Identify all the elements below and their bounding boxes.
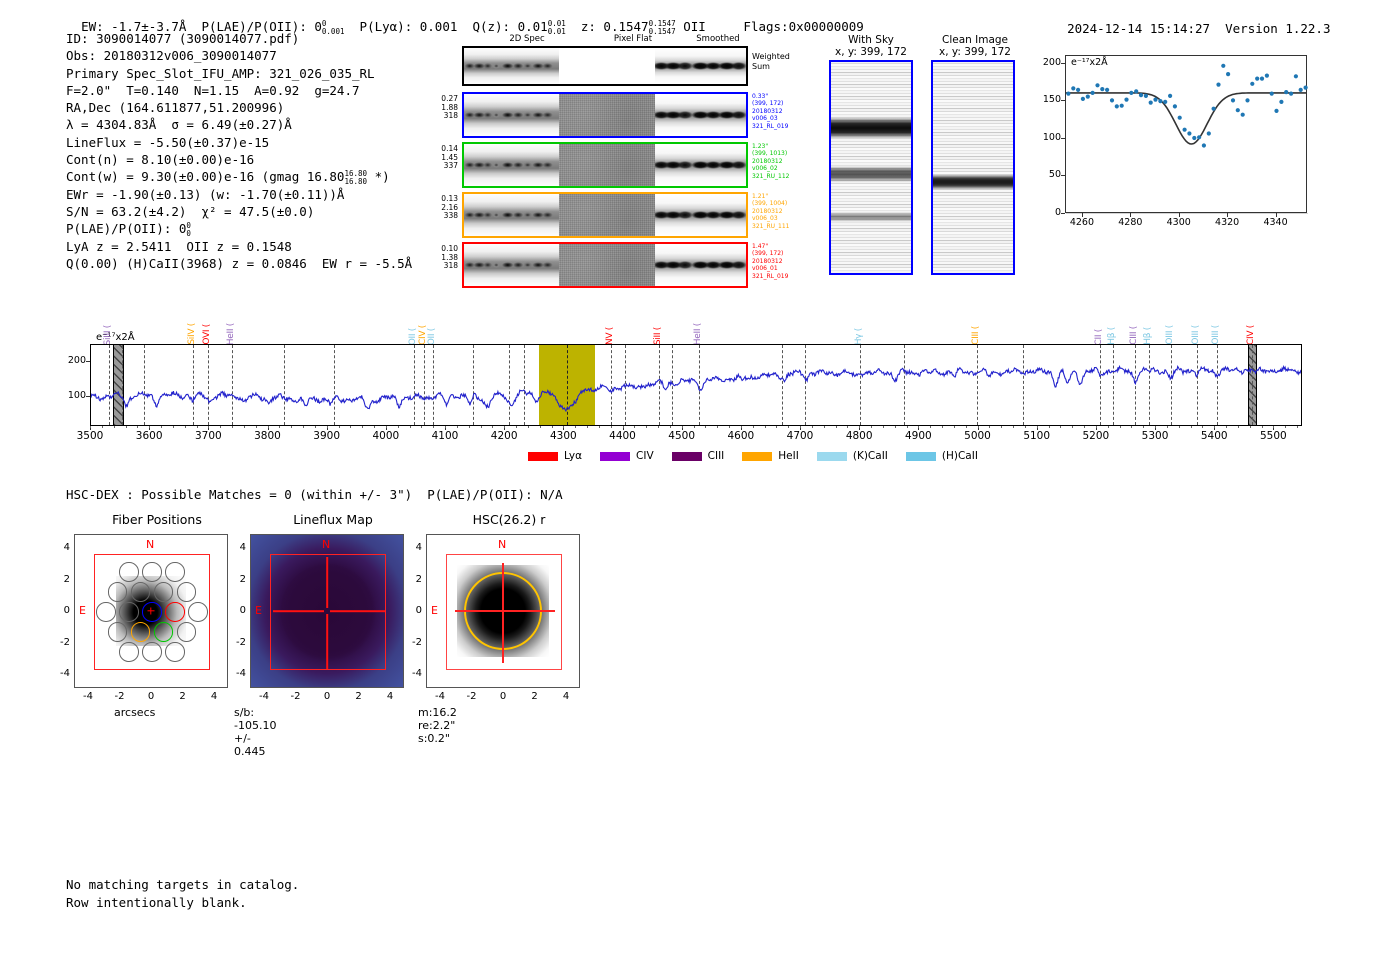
header-timestamp-version: 2024-12-14 15:14:27 Version 1.22.3 xyxy=(1052,6,1330,36)
fit-y-tick xyxy=(1061,138,1065,139)
spectrum-x-minor-tick xyxy=(705,426,706,428)
spectrum-x-minor-tick xyxy=(800,426,801,428)
spectrum-line-label: Hγ ( xyxy=(854,328,864,345)
spectrum-x-minor-tick xyxy=(504,426,505,428)
cutout-y-tick-label: 2 xyxy=(48,574,70,585)
fiber-positions-xlabel: arcsecs xyxy=(114,706,155,719)
spectrum-x-minor-tick xyxy=(1108,426,1109,428)
fiber-row xyxy=(462,92,748,138)
fiber-row xyxy=(462,142,748,188)
info-lineflux: LineFlux = -5.50(±0.37)e-15 xyxy=(66,134,412,151)
spectrum-x-minor-tick xyxy=(1025,426,1026,428)
header-z: z: 0.1547 xyxy=(581,19,649,34)
fit-y-tick-label: 50 xyxy=(1029,169,1061,180)
cutout-x-tick-label: -2 xyxy=(456,691,488,702)
cutout-x-tick-label: 4 xyxy=(374,691,406,702)
spectrum-x-minor-tick xyxy=(1084,426,1085,428)
spectrum-x-minor-tick xyxy=(197,426,198,428)
spectrum-x-minor-tick xyxy=(729,426,730,428)
spectrum-line-label: CII ( xyxy=(1094,329,1104,345)
spectrum-x-minor-tick xyxy=(1096,426,1097,428)
spectrum-line-label: OIII ( xyxy=(1211,325,1221,345)
legend-item: (K)CaII xyxy=(817,450,888,462)
legend-swatch xyxy=(817,452,847,461)
fit-y-tick xyxy=(1061,100,1065,101)
fiber-row-smoothed xyxy=(655,144,746,186)
spectrum-x-minor-tick xyxy=(1013,426,1014,428)
spectrum-x-minor-tick xyxy=(126,426,127,428)
spectrum-x-minor-tick xyxy=(1179,426,1180,428)
spectrum-x-minor-tick xyxy=(611,426,612,428)
column-title-smoothed: Smoothed xyxy=(668,34,768,44)
info-lambda-sigma: λ = 4304.83Å σ = 6.49(±0.27)Å xyxy=(66,116,412,133)
fit-y-tick xyxy=(1061,63,1065,64)
spectrum-x-minor-tick xyxy=(1072,426,1073,428)
fiber-positions-fov-box xyxy=(94,554,210,670)
header-qz-bounds: 0.010.01 xyxy=(548,20,566,35)
fiber-row-left-labels: 0.141.45337 xyxy=(418,145,458,171)
spectrum-x-tick-label: 5400 xyxy=(1186,430,1242,442)
footer-line-1: No matching targets in catalog. xyxy=(66,876,299,894)
cutout-y-tick-label: 4 xyxy=(224,542,246,553)
legend-label: HeII xyxy=(778,450,799,462)
cutout-y-tick-label: 2 xyxy=(400,574,422,585)
spectrum-x-minor-tick xyxy=(1214,426,1215,428)
fit-x-tick xyxy=(1179,213,1180,217)
cutout-clean-image-image xyxy=(931,60,1015,275)
fiber-row-pixelflat xyxy=(559,194,655,236)
info-sn-chi2: S/N = 63.2(±4.2) χ² = 47.5(±0.0) xyxy=(66,203,412,220)
fiber-row-side-labels: 1.21" (399, 1004) 20180312 v006_03 321_R… xyxy=(752,193,789,230)
info-primary-spec-slot: Primary Spec_Slot_IFU_AMP: 321_026_035_R… xyxy=(66,65,412,82)
spectrum-x-minor-tick xyxy=(1037,426,1038,428)
cutout-x-tick-label: -2 xyxy=(280,691,312,702)
footer-line-2: Row intentionally blank. xyxy=(66,894,299,912)
fit-y-tick-label: 200 xyxy=(1029,57,1061,68)
spectrum-line-label: SiII ( xyxy=(653,327,663,345)
fiber-row-metric: 338 xyxy=(418,212,458,221)
spectrum-x-tick-label: 3700 xyxy=(180,430,236,442)
spectrum-x-tick-label: 4900 xyxy=(890,430,946,442)
spectrum-x-minor-tick xyxy=(1049,426,1050,428)
spectrum-x-minor-tick xyxy=(1250,426,1251,428)
info-params: F=2.0" T=0.140 N=1.15 A=0.92 g=24.7 xyxy=(66,82,412,99)
spectrum-x-minor-tick xyxy=(812,426,813,428)
spectrum-y-tick xyxy=(86,396,90,397)
cutout-y-tick-label: 0 xyxy=(400,605,422,616)
cutout-y-tick-label: -2 xyxy=(400,637,422,648)
spectrum-y-tick xyxy=(86,361,90,362)
spectrum-x-minor-tick xyxy=(883,426,884,428)
lineflux-map-xlabel: s/b: -105.10 +/- 0.445 xyxy=(234,706,276,758)
spectrum-x-minor-tick xyxy=(327,426,328,428)
spectrum-x-tick-label: 3900 xyxy=(299,430,355,442)
spectrum-x-minor-tick xyxy=(173,426,174,428)
header-flags: Flags:0x00000009 xyxy=(743,19,863,34)
column-title-2d-spec: 2D Spec xyxy=(472,34,582,44)
weighted-sum-row xyxy=(462,46,748,86)
fit-y-tick-label: 0 xyxy=(1029,207,1061,218)
cutout-clean-image-title: Clean Image xyxy=(928,34,1022,46)
cutout-y-tick-label: 0 xyxy=(224,605,246,616)
fit-x-tick xyxy=(1276,213,1277,217)
spectrum-x-minor-tick xyxy=(185,426,186,428)
fiber-row-left-labels: 0.271.88318 xyxy=(418,95,458,121)
cutout-y-tick-label: -4 xyxy=(224,668,246,679)
fiber-row-2dspec xyxy=(464,94,559,136)
spectrum-x-minor-tick xyxy=(1285,426,1286,428)
fiber-row-2dspec xyxy=(464,144,559,186)
fiber-row-left-labels: 0.132.16338 xyxy=(418,195,458,221)
legend-item: CIII xyxy=(672,450,725,462)
spectrum-x-minor-tick xyxy=(634,426,635,428)
spectrum-x-minor-tick xyxy=(1273,426,1274,428)
spectrum-x-minor-tick xyxy=(1226,426,1227,428)
legend-label: Lyα xyxy=(564,450,582,462)
spectrum-x-minor-tick xyxy=(492,426,493,428)
spectrum-y-tick-label: 200 xyxy=(52,355,86,366)
spectrum-x-minor-tick xyxy=(149,426,150,428)
cutout-x-tick-label: -4 xyxy=(72,691,104,702)
cutout-y-tick-label: -2 xyxy=(224,637,246,648)
cutout-x-tick-label: 2 xyxy=(519,691,551,702)
spectrum-line-label: Hβ ( xyxy=(1107,327,1117,345)
spectrum-x-tick-label: 4100 xyxy=(417,430,473,442)
spectrum-x-tick-label: 4200 xyxy=(476,430,532,442)
spectrum-x-minor-tick xyxy=(540,426,541,428)
legend-swatch xyxy=(600,452,630,461)
legend-item: CIV xyxy=(600,450,654,462)
spectrum-x-minor-tick xyxy=(658,426,659,428)
fit-x-tick xyxy=(1082,213,1083,217)
spectrum-x-minor-tick xyxy=(457,426,458,428)
info-cont-w: Cont(w) = 9.30(±0.00)e-16 (gmag 16.8016.… xyxy=(66,168,412,185)
spectrum-x-tick-label: 4500 xyxy=(654,430,710,442)
fiber-positions-compass-e: E xyxy=(79,604,86,617)
spectrum-line-label: SiIII ( xyxy=(103,325,113,345)
source-info-block: ID: 3090014077 (3090014077.pdf) Obs: 201… xyxy=(66,30,412,272)
spectrum-x-minor-tick xyxy=(788,426,789,428)
spectrum-line-label: OIII ( xyxy=(1191,325,1201,345)
fiber-row-pixelflat xyxy=(559,94,655,136)
cutout-y-tick-label: 2 xyxy=(224,574,246,585)
spectrum-trace xyxy=(91,345,1301,425)
spectrum-x-minor-tick xyxy=(374,426,375,428)
footer-note: No matching targets in catalog. Row inte… xyxy=(66,876,299,911)
spectrum-x-minor-tick xyxy=(907,426,908,428)
spectrum-x-minor-tick xyxy=(859,426,860,428)
header-qz: Q(z): 0.01 xyxy=(472,19,547,34)
spectrum-x-minor-tick xyxy=(1060,426,1061,428)
legend-swatch xyxy=(742,452,772,461)
cutout-with-sky-subtitle: x, y: 399, 172 xyxy=(820,46,922,58)
spectrum-x-minor-tick xyxy=(954,426,955,428)
fiber-positions-frame xyxy=(74,534,228,688)
fit-x-tick-label: 4340 xyxy=(1254,217,1298,228)
weighted-sum-label: Weighted Sum xyxy=(752,52,790,72)
info-ewr: EWr = -1.90(±0.13) (w: -1.70(±0.11))Å xyxy=(66,186,412,203)
spectrum-line-label: OVI ( xyxy=(202,324,212,345)
spectrum-x-minor-tick xyxy=(445,426,446,428)
spectrum-x-minor-tick xyxy=(587,426,588,428)
spectrum-x-minor-tick xyxy=(978,426,979,428)
cutout-y-tick-label: -2 xyxy=(48,637,70,648)
spectrum-x-minor-tick xyxy=(350,426,351,428)
fit-x-tick-label: 4320 xyxy=(1205,217,1249,228)
header-z-bounds: 0.15470.1547 xyxy=(649,20,676,35)
spectrum-x-minor-tick xyxy=(114,426,115,428)
spectrum-x-minor-tick xyxy=(1001,426,1002,428)
spectrum-x-minor-tick xyxy=(481,426,482,428)
weighted-sum-2dspec xyxy=(464,48,559,84)
spectrum-x-minor-tick xyxy=(528,426,529,428)
spectrum-x-minor-tick xyxy=(220,426,221,428)
spectrum-x-minor-tick xyxy=(410,426,411,428)
spectrum-x-tick-label: 3800 xyxy=(240,430,296,442)
spectrum-x-tick-label: 4800 xyxy=(831,430,887,442)
fit-x-tick-label: 4300 xyxy=(1157,217,1201,228)
spectrum-x-minor-tick xyxy=(433,426,434,428)
cutout-with-sky-title: With Sky xyxy=(826,34,916,46)
spectrum-line-labels: SiIII (SiIV (OVI (HeII (OII (CIV (OII (N… xyxy=(90,270,1302,345)
weighted-sum-smoothed xyxy=(655,48,746,84)
spectrum-x-minor-tick xyxy=(1238,426,1239,428)
spectrum-line-label: CIII ( xyxy=(1129,326,1139,345)
spectrum-line-label: HeII ( xyxy=(693,323,703,345)
fit-y-tick-label: 100 xyxy=(1029,132,1061,143)
spectrum-line-label: HeII ( xyxy=(226,323,236,345)
spectrum-x-minor-tick xyxy=(1297,426,1298,428)
info-obs: Obs: 20180312v006_3090014077 xyxy=(66,47,412,64)
spectrum-x-minor-tick xyxy=(398,426,399,428)
hsc-image-title: HSC(26.2) r xyxy=(414,512,604,527)
header-version: Version 1.22.3 xyxy=(1225,21,1330,36)
fiber-row-left-labels: 0.101.38318 xyxy=(418,245,458,271)
cutout-y-tick-label: -4 xyxy=(400,668,422,679)
spectrum-line-label: SiIV ( xyxy=(187,323,197,345)
fit-y-tick xyxy=(1061,213,1065,214)
spectrum-x-minor-tick xyxy=(256,426,257,428)
spectrum-x-tick-label: 3500 xyxy=(62,430,118,442)
spectrum-x-minor-tick xyxy=(753,426,754,428)
hsc-image-compass-e: E xyxy=(431,604,438,617)
spectrum-x-minor-tick xyxy=(102,426,103,428)
line-fit-svg xyxy=(1066,56,1308,214)
legend-swatch xyxy=(528,452,558,461)
legend-label: (H)CaII xyxy=(942,450,978,462)
fit-x-tick-label: 4280 xyxy=(1108,217,1152,228)
fiber-row-pixelflat xyxy=(559,144,655,186)
spectrum-line-label: NV ( xyxy=(605,327,615,345)
spectrum-x-minor-tick xyxy=(563,426,564,428)
spectrum-x-minor-tick xyxy=(741,426,742,428)
fiber-row-side-labels: 0.33" (399, 172) 20180312 v006_03 321_RL… xyxy=(752,93,788,130)
legend-label: (K)CaII xyxy=(853,450,888,462)
spectrum-x-minor-tick xyxy=(1167,426,1168,428)
cutout-y-tick-label: 4 xyxy=(48,542,70,553)
spectrum-x-tick-label: 4700 xyxy=(772,430,828,442)
spectrum-x-minor-tick xyxy=(942,426,943,428)
spectrum-x-minor-tick xyxy=(208,426,209,428)
fit-y-tick-label: 150 xyxy=(1029,94,1061,105)
cutout-x-tick-label: -4 xyxy=(248,691,280,702)
legend-swatch xyxy=(906,452,936,461)
fit-x-tick-label: 4260 xyxy=(1060,217,1104,228)
line-fit-plot: 050100150200 42604280430043204340 e⁻¹⁷x2… xyxy=(1035,55,1307,235)
spectrum-x-tick-label: 4600 xyxy=(713,430,769,442)
cutout-x-tick-label: 0 xyxy=(311,691,343,702)
legend-item: Lyα xyxy=(528,450,582,462)
fit-x-tick xyxy=(1227,213,1228,217)
spectrum-x-minor-tick xyxy=(1143,426,1144,428)
info-radec: RA,Dec (164.611877,51.200996) xyxy=(66,99,412,116)
spectrum-x-tick-label: 5200 xyxy=(1068,430,1124,442)
spectrum-x-minor-tick xyxy=(1155,426,1156,428)
spectrum-x-minor-tick xyxy=(552,426,553,428)
fiber-row-smoothed xyxy=(655,94,746,136)
fiber-positions-title: Fiber Positions xyxy=(62,512,252,527)
hsc-dex-summary: HSC-DEX : Possible Matches = 0 (within +… xyxy=(66,487,563,502)
main-spectrum-plot xyxy=(90,344,1302,426)
legend-item: HeII xyxy=(742,450,799,462)
header-z-line: OII xyxy=(683,19,706,34)
spectrum-x-minor-tick xyxy=(90,426,91,428)
fiber-row-2dspec xyxy=(464,194,559,236)
cutout-y-tick-label: 0 xyxy=(48,605,70,616)
fiber-row xyxy=(462,192,748,238)
spectrum-x-minor-tick xyxy=(623,426,624,428)
spectrum-x-minor-tick xyxy=(232,426,233,428)
spectrum-x-minor-tick xyxy=(268,426,269,428)
spectrum-line-label: OIII ( xyxy=(1165,325,1175,345)
cutout-x-tick-label: 0 xyxy=(135,691,167,702)
spectrum-x-tick-label: 4400 xyxy=(595,430,651,442)
legend-label: CIII xyxy=(708,450,725,462)
info-redshifts: LyA z = 2.5411 OII z = 0.1548 xyxy=(66,238,412,255)
cutout-x-tick-label: 4 xyxy=(198,691,230,702)
spectrum-x-tick-label: 5500 xyxy=(1245,430,1301,442)
spectrum-legend: LyαCIVCIIIHeII(K)CaII(H)CaII xyxy=(528,450,978,462)
cutout-y-tick-label: 4 xyxy=(400,542,422,553)
spectrum-x-minor-tick xyxy=(871,426,872,428)
cutout-x-tick-label: 2 xyxy=(167,691,199,702)
legend-swatch xyxy=(672,452,702,461)
lineflux-map-title: Lineflux Map xyxy=(238,512,428,527)
spectrum-x-minor-tick xyxy=(646,426,647,428)
spectrum-x-minor-tick xyxy=(966,426,967,428)
lineflux-map-compass-n: N xyxy=(322,538,330,551)
cutout-x-tick-label: 4 xyxy=(550,691,582,702)
spectrum-x-minor-tick xyxy=(469,426,470,428)
spectrum-x-minor-tick xyxy=(315,426,316,428)
spectrum-x-minor-tick xyxy=(1202,426,1203,428)
spectrum-x-minor-tick xyxy=(137,426,138,428)
legend-label: CIV xyxy=(636,450,654,462)
spectrum-x-minor-tick xyxy=(776,426,777,428)
cutout-with-sky-image xyxy=(829,60,913,275)
cutout-clean-image-subtitle: x, y: 399, 172 xyxy=(924,46,1026,58)
lineflux-map-compass-e: E xyxy=(255,604,262,617)
spectrum-x-minor-tick xyxy=(291,426,292,428)
info-id: ID: 3090014077 (3090014077.pdf) xyxy=(66,30,412,47)
legend-item: (H)CaII xyxy=(906,450,978,462)
spectrum-line-label: OII ( xyxy=(427,328,437,345)
info-cont-n: Cont(n) = 8.10(±0.00)e-16 xyxy=(66,151,412,168)
hsc-image-frame xyxy=(426,534,580,688)
fiber-row-metric: 337 xyxy=(418,162,458,171)
spectrum-x-minor-tick xyxy=(279,426,280,428)
fiber-row-metric: 318 xyxy=(418,112,458,121)
cutout-x-tick-label: -2 xyxy=(104,691,136,702)
spectrum-x-minor-tick xyxy=(895,426,896,428)
fiber-row-smoothed xyxy=(655,194,746,236)
line-fit-units-annotation: e⁻¹⁷x2Å xyxy=(1071,57,1108,68)
spectrum-line-label: OII ( xyxy=(408,328,418,345)
header-datetime: 2024-12-14 15:14:27 xyxy=(1067,21,1210,36)
spectrum-line-label: Hβ ( xyxy=(1143,327,1153,345)
hsc-image-xlabel: m:16.2 re:2.2" s:0.2" xyxy=(418,706,457,745)
spectrum-x-minor-tick xyxy=(847,426,848,428)
spectrum-x-tick-label: 3600 xyxy=(121,430,177,442)
spectrum-x-minor-tick xyxy=(575,426,576,428)
spectrum-x-minor-tick xyxy=(599,426,600,428)
spectrum-x-minor-tick xyxy=(1120,426,1121,428)
spectrum-x-minor-tick xyxy=(989,426,990,428)
spectrum-x-tick-label: 5000 xyxy=(950,430,1006,442)
spectrum-x-tick-label: 4000 xyxy=(358,430,414,442)
spectrum-x-minor-tick xyxy=(717,426,718,428)
spectrum-x-minor-tick xyxy=(421,426,422,428)
weighted-sum-pixelflat xyxy=(559,48,655,84)
cutout-x-tick-label: -4 xyxy=(424,691,456,702)
spectrum-x-tick-label: 5100 xyxy=(1009,430,1065,442)
cutout-x-tick-label: 0 xyxy=(487,691,519,702)
spectrum-x-minor-tick xyxy=(694,426,695,428)
spectrum-line-label: CIV ( xyxy=(1246,325,1256,345)
spectrum-x-minor-tick xyxy=(516,426,517,428)
fit-x-tick xyxy=(1130,213,1131,217)
spectrum-x-minor-tick xyxy=(161,426,162,428)
fiber-row-side-labels: 1.23" (399, 1013) 20180312 v006_02 321_R… xyxy=(752,143,789,180)
spectrum-x-tick-label: 5300 xyxy=(1127,430,1183,442)
spectrum-x-minor-tick xyxy=(1131,426,1132,428)
hsc-image-compass-n: N xyxy=(498,538,506,551)
lineflux-map-frame xyxy=(250,534,404,688)
info-plae-poii: P(LAE)/P(OII): 000 xyxy=(66,220,412,237)
spectrum-y-tick-label: 100 xyxy=(52,390,86,401)
spectrum-x-minor-tick xyxy=(824,426,825,428)
spectrum-x-minor-tick xyxy=(670,426,671,428)
spectrum-x-minor-tick xyxy=(1262,426,1263,428)
spectrum-x-minor-tick xyxy=(765,426,766,428)
line-fit-plot-frame xyxy=(1065,55,1307,213)
spectrum-x-minor-tick xyxy=(362,426,363,428)
spectrum-x-minor-tick xyxy=(244,426,245,428)
cutout-y-tick-label: -4 xyxy=(48,668,70,679)
spectrum-x-minor-tick xyxy=(918,426,919,428)
fiber-positions-compass-n: N xyxy=(146,538,154,551)
spectrum-x-minor-tick xyxy=(836,426,837,428)
fit-y-tick xyxy=(1061,175,1065,176)
spectrum-x-minor-tick xyxy=(682,426,683,428)
spectrum-x-minor-tick xyxy=(339,426,340,428)
spectrum-x-minor-tick xyxy=(1191,426,1192,428)
spectrum-line-label: CIII ( xyxy=(971,326,981,345)
spectrum-x-minor-tick xyxy=(930,426,931,428)
spectrum-x-tick-label: 4300 xyxy=(535,430,591,442)
cutout-x-tick-label: 2 xyxy=(343,691,375,702)
spectrum-x-minor-tick xyxy=(303,426,304,428)
